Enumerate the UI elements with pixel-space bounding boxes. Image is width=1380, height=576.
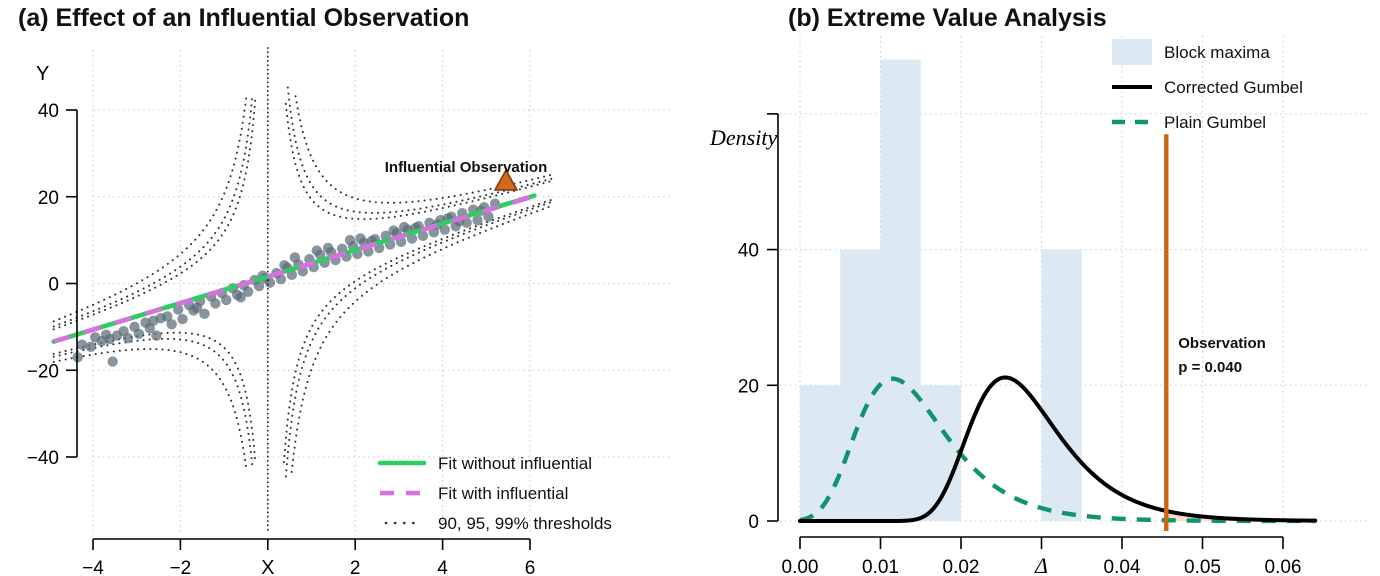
panel-b-y-tick: 0 — [748, 512, 759, 533]
histogram-bar — [881, 60, 921, 521]
panel-a-x-axis-label: X — [261, 557, 274, 576]
panel-b-y-axis-label: Density — [709, 125, 777, 150]
histogram-bar — [1042, 250, 1082, 521]
figure-container: (a) Effect of an Influential Observation… — [0, 0, 1380, 576]
panel-a-x-tick: 2 — [350, 558, 361, 576]
histogram-bar — [800, 385, 840, 521]
panel-b-y-tick: 20 — [738, 376, 759, 397]
legend-swatch-block-maxima — [1112, 39, 1152, 65]
panel-b-histogram-bars — [800, 60, 1082, 521]
legend-label[interactable]: Fit with influential — [438, 484, 568, 503]
panel-b-y-tick: 40 — [738, 241, 759, 262]
histogram-bar — [840, 250, 880, 521]
observation-annotation-title: Observation — [1178, 335, 1266, 352]
panel-a-threshold-curves — [54, 88, 552, 477]
panel-b-x-tick: 0.00 — [782, 557, 819, 576]
legend-label[interactable]: Fit without influential — [438, 454, 592, 473]
panel-b-x-tick: 0.02 — [943, 557, 980, 576]
panel-a-x-tick: −2 — [170, 558, 192, 576]
panel-b-svg: (b) Extreme Value Analysis Density Obser… — [690, 0, 1380, 576]
panel-a-legend[interactable]: Fit without influentialFit with influent… — [380, 454, 612, 533]
panel-a-x-tick: 4 — [437, 558, 448, 576]
panel-a-y-axis-label: Y — [36, 63, 49, 85]
panel-a-y-tick: −20 — [27, 361, 59, 382]
panel-b-x-tick: 0.04 — [1104, 557, 1141, 576]
panel-a-title: (a) Effect of an Influential Observation — [18, 4, 469, 32]
panel-a-y-tick: 40 — [38, 101, 59, 122]
panel-a-x-tick: 6 — [525, 558, 536, 576]
influential-observation-label: Influential Observation — [385, 159, 548, 176]
panel-b-x-axis-label: Δ — [1034, 553, 1048, 576]
panel-b-x-tick: 0.05 — [1184, 557, 1221, 576]
observation-annotation-pvalue: p = 0.040 — [1178, 359, 1242, 376]
panel-b-legend[interactable]: Block maximaCorrected GumbelPlain Gumbel — [1112, 39, 1303, 132]
legend-label[interactable]: Block maxima — [1164, 43, 1270, 62]
panel-a-influential-observation: (a) Effect of an Influential Observation… — [0, 0, 690, 576]
panel-a-y-tick: 0 — [48, 275, 59, 296]
panel-b-extreme-value-analysis: (b) Extreme Value Analysis Density Obser… — [690, 0, 1380, 576]
panel-a-y-tick: 20 — [38, 188, 59, 209]
panel-a-x-tick: −4 — [82, 558, 104, 576]
panel-b-x-tick: 0.06 — [1265, 557, 1302, 576]
panel-a-svg: (a) Effect of an Influential Observation… — [0, 0, 690, 576]
legend-label[interactable]: 90, 95, 99% thresholds — [438, 514, 612, 533]
legend-label[interactable]: Corrected Gumbel — [1164, 78, 1303, 97]
legend-label[interactable]: Plain Gumbel — [1164, 113, 1266, 132]
panel-a-y-tick: −40 — [27, 448, 59, 469]
panel-b-title: (b) Extreme Value Analysis — [788, 4, 1107, 32]
panel-a-fit-lines — [54, 196, 535, 342]
panel-b-x-tick: 0.01 — [862, 557, 899, 576]
